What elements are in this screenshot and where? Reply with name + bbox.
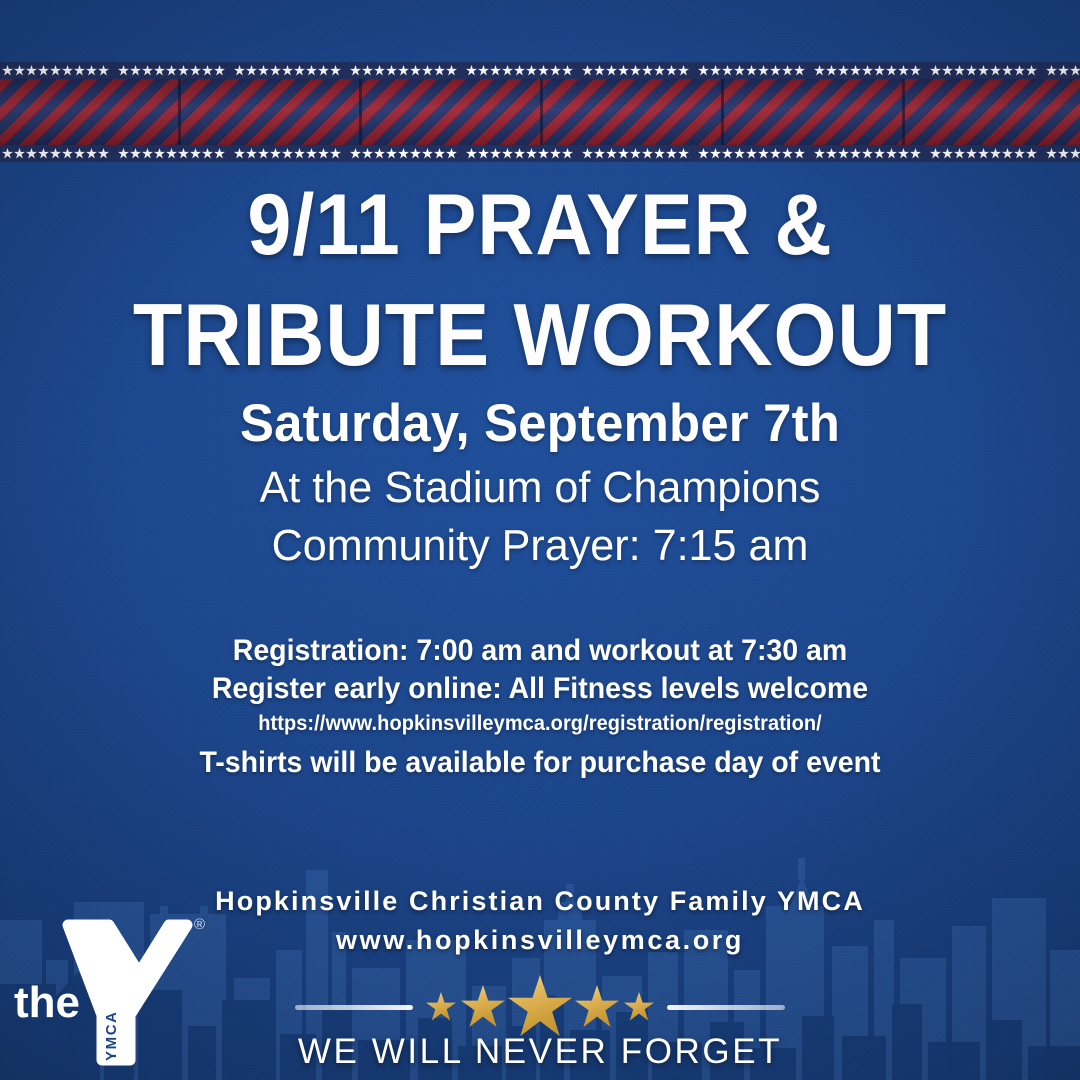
event-prayer-time: Community Prayer: 7:15 am — [11, 524, 1069, 568]
headline-line-1: 9/11 PRAYER & — [43, 182, 1037, 270]
detail-registration-time: Registration: 7:00 am and workout at 7:3… — [27, 634, 1053, 668]
event-venue: At the Stadium of Champions — [11, 466, 1069, 510]
gold-star-4 — [575, 985, 619, 1029]
divider-gap-left — [413, 1005, 423, 1010]
ymca-logo[interactable]: the YMCA ® — [8, 905, 213, 1080]
divider-gap-right — [657, 1005, 667, 1010]
gold-star-2 — [461, 985, 505, 1029]
divider-rule-left — [295, 1005, 413, 1010]
headline-line-2: TRIBUTE WORKOUT — [43, 290, 1037, 380]
registered-trademark-icon: ® — [194, 916, 205, 933]
detail-register-early: Register early online: All Fitness level… — [27, 672, 1053, 706]
y-chevron-outline — [68, 925, 187, 1060]
event-date: Saturday, September 7th — [22, 397, 1059, 450]
poster-canvas: 9/11 PRAYER & TRIBUTE WORKOUT Saturday, … — [0, 0, 1080, 1080]
logo-the-text: the — [14, 978, 80, 1027]
detail-tshirts: T-shirts will be available for purchase … — [27, 746, 1053, 780]
gold-star-5 — [624, 992, 654, 1022]
registration-url[interactable]: https://www.hopkinsvilleymca.org/registr… — [27, 712, 1053, 736]
divider-rule-right — [667, 1005, 785, 1010]
logo-ymca-text: YMCA — [103, 1010, 120, 1061]
gold-star-3 — [508, 975, 572, 1039]
gold-star-1 — [426, 992, 456, 1022]
